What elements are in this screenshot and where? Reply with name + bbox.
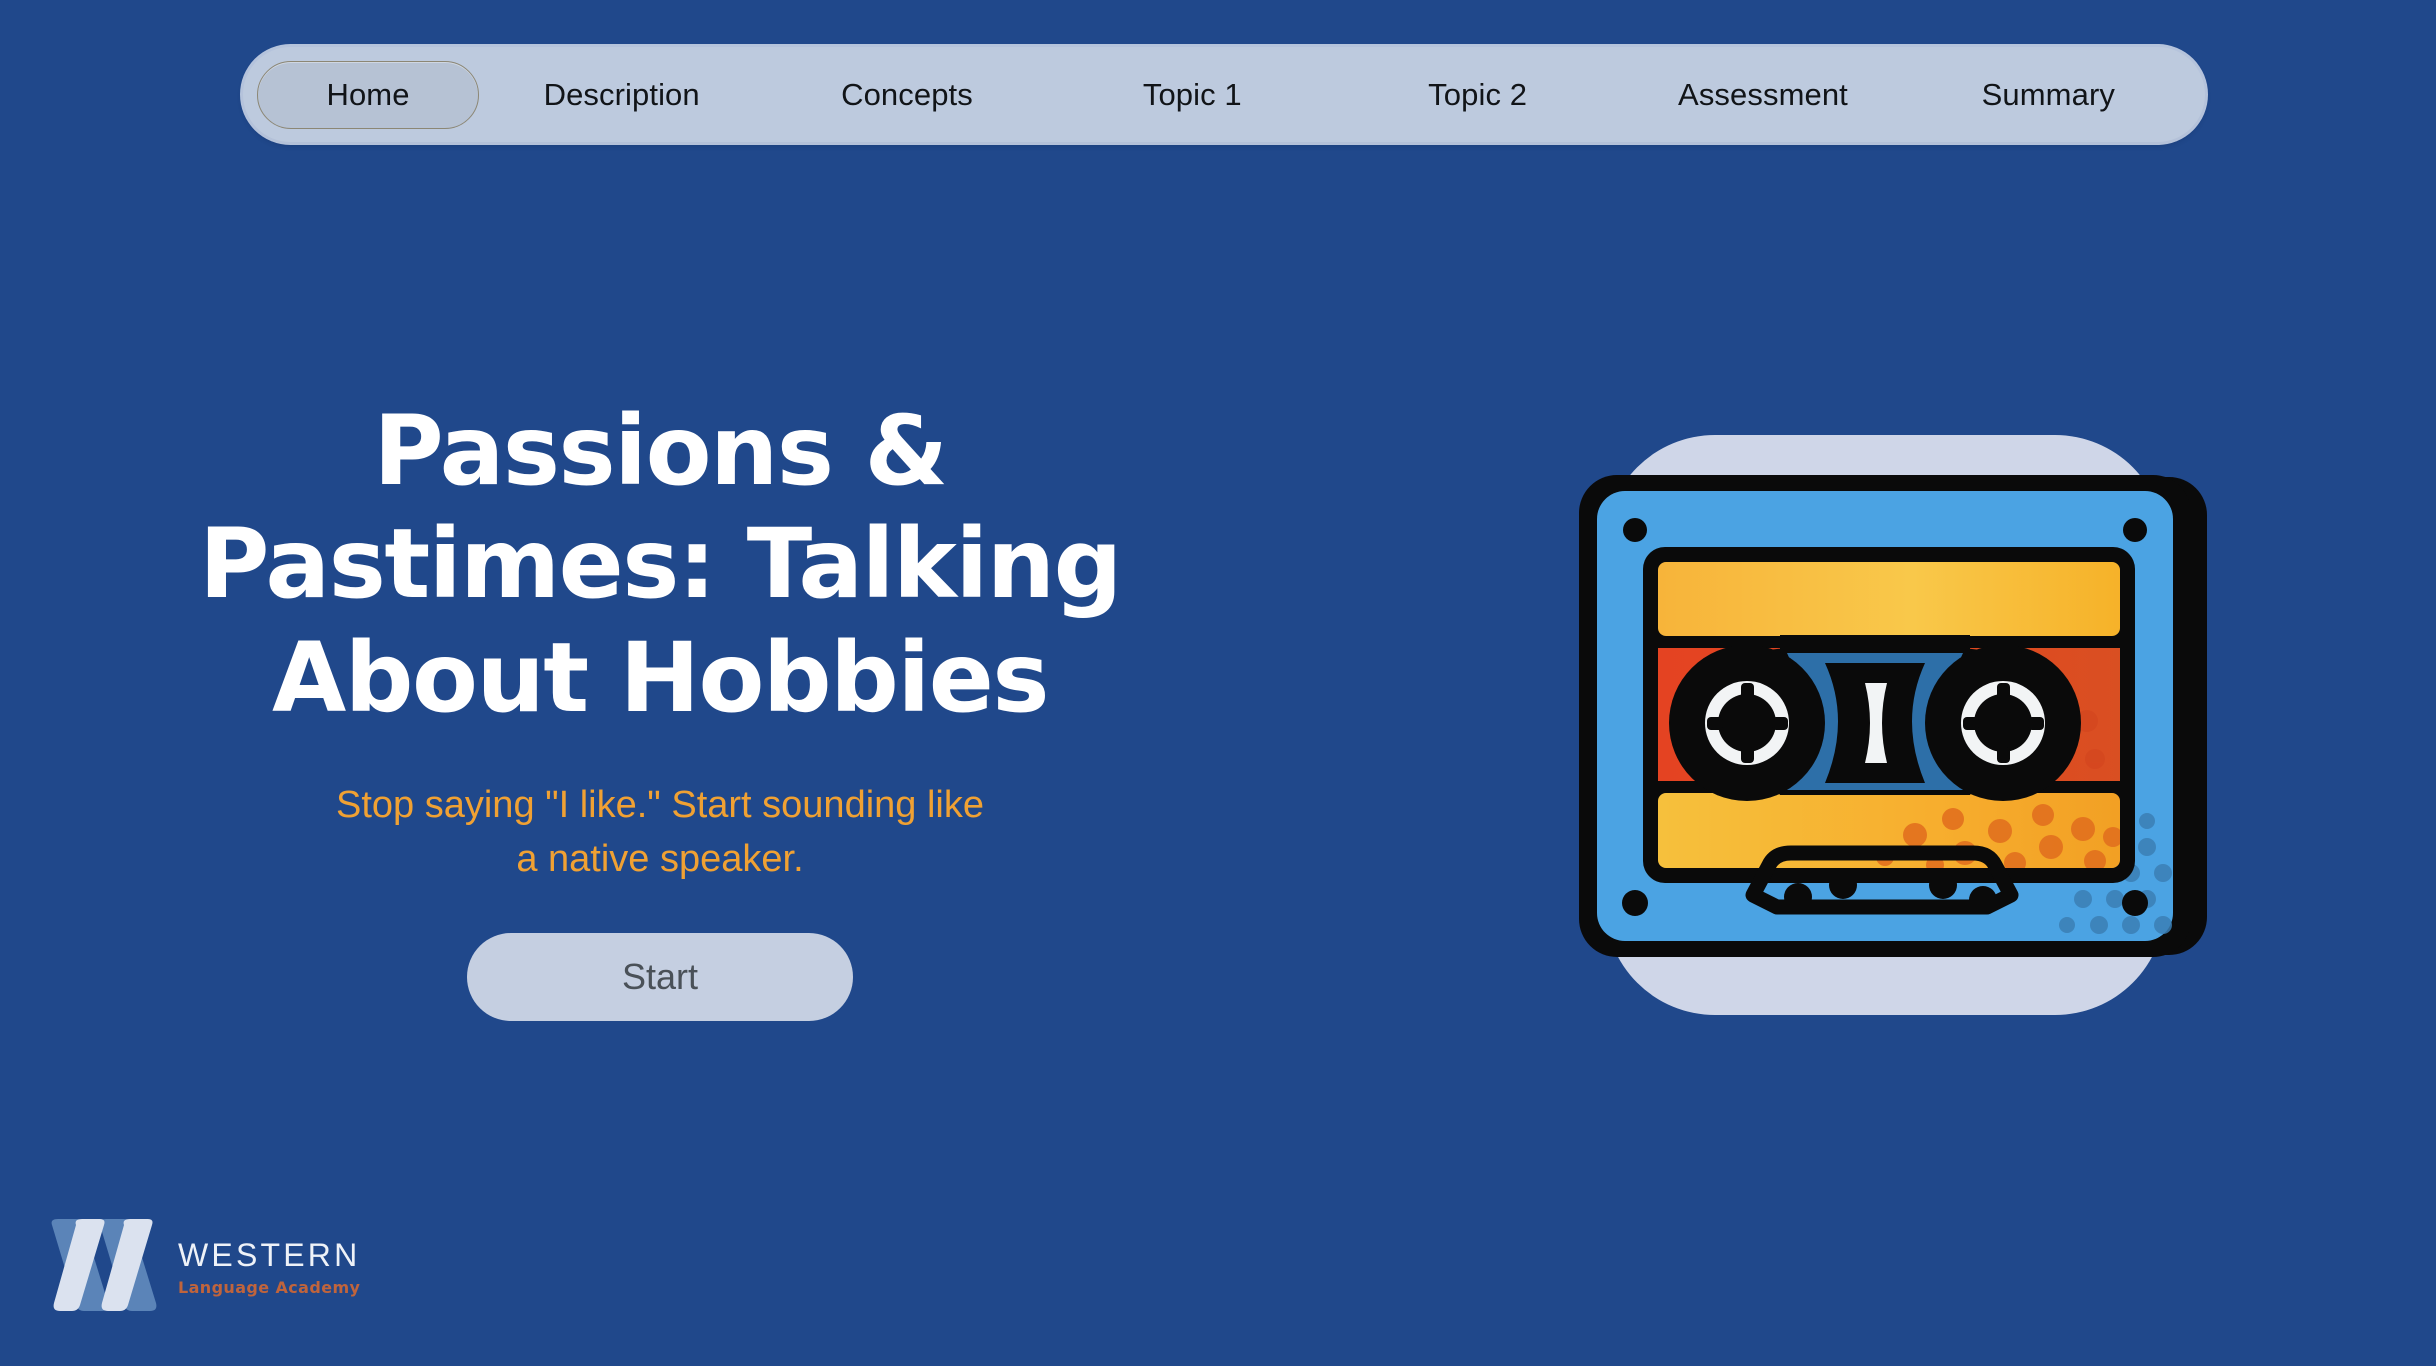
cassette-tape-icon <box>1495 395 2285 1055</box>
hero-text-block: Passions & Pastimes: Talking About Hobbi… <box>96 395 1224 1021</box>
nav-item-topic-1[interactable]: Topic 1 <box>1050 61 1335 129</box>
nav-item-description[interactable]: Description <box>479 61 764 129</box>
nav-item-topic-2[interactable]: Topic 2 <box>1335 61 1620 129</box>
logo-name: WESTERN <box>178 1239 360 1271</box>
western-w-logo-icon <box>46 1217 164 1313</box>
page-subtitle: Stop saying "I like." Start sounding lik… <box>96 779 1224 887</box>
nav-item-summary[interactable]: Summary <box>1906 61 2191 129</box>
nav-item-assessment[interactable]: Assessment <box>1620 61 1905 129</box>
page-title: Passions & Pastimes: Talking About Hobbi… <box>96 395 1224 735</box>
nav-item-home[interactable]: Home <box>257 61 479 129</box>
logo-text-block: WESTERN Language Academy <box>178 1235 360 1296</box>
nav-item-concepts[interactable]: Concepts <box>764 61 1049 129</box>
logo-tagline: Language Academy <box>178 1280 360 1296</box>
start-button[interactable]: Start <box>467 933 853 1021</box>
brand-logo: WESTERN Language Academy <box>46 1217 360 1313</box>
top-navigation-bar: Home Description Concepts Topic 1 Topic … <box>243 47 2205 142</box>
